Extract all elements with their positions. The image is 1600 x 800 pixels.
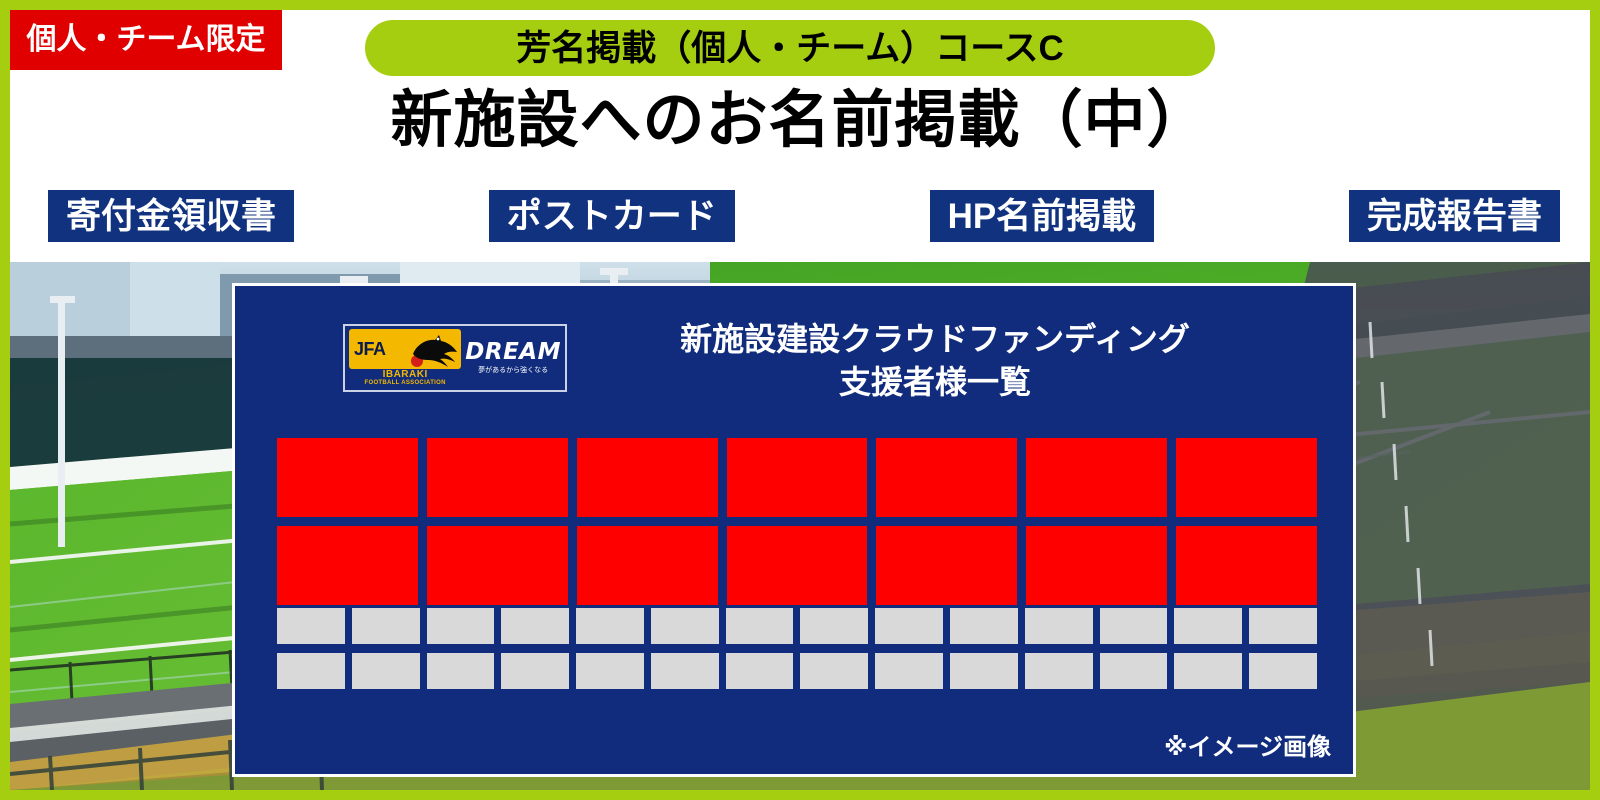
gray-nameplate-grid — [277, 608, 1317, 689]
course-pill: 芳名掲載（個人・チーム）コースC — [365, 20, 1215, 76]
red-nameplate — [577, 438, 718, 517]
jfa-mark: JFA IBARAKI FOOTBALL ASSOCIATION — [349, 329, 461, 387]
gray-nameplate — [1174, 608, 1242, 644]
page-title: 新施設へのお名前掲載（中） — [10, 88, 1590, 153]
gray-nameplate — [1100, 608, 1168, 644]
red-nameplate — [1026, 526, 1167, 605]
gray-nameplate — [352, 608, 420, 644]
jfa-dream-logo: JFA IBARAKI FOOTBALL ASSOCIATION DREAM 夢… — [343, 324, 567, 392]
red-nameplate — [727, 438, 868, 517]
gray-nameplate — [651, 608, 719, 644]
perk-receipt: 寄付金領収書 — [48, 190, 294, 242]
jfa-region-label: IBARAKI — [349, 369, 461, 380]
red-nameplate — [876, 526, 1017, 605]
red-nameplate — [277, 526, 418, 605]
gray-nameplate — [277, 653, 345, 689]
perk-postcard: ポストカード — [489, 190, 735, 242]
dream-block: DREAM 夢があるから強くなる — [465, 341, 561, 375]
red-nameplate — [427, 526, 568, 605]
gray-nameplate — [352, 653, 420, 689]
red-nameplate — [1026, 438, 1167, 517]
gray-nameplate — [1025, 653, 1093, 689]
gray-nameplate — [501, 653, 569, 689]
panel-title-line1: 新施設建設クラウドファンディング — [680, 321, 1190, 357]
red-nameplate-row — [277, 438, 1317, 517]
gray-nameplate — [427, 608, 495, 644]
red-nameplate — [277, 438, 418, 517]
poster-canvas: 個人・チーム限定 芳名掲載（個人・チーム）コースC 新施設へのお名前掲載（中） … — [0, 0, 1600, 800]
gray-nameplate — [875, 608, 943, 644]
perks-row: 寄付金領収書 ポストカード HP名前掲載 完成報告書 — [48, 190, 1560, 242]
gray-nameplate — [501, 608, 569, 644]
image-disclaimer: ※イメージ画像 — [1164, 736, 1331, 760]
red-nameplate — [1176, 526, 1317, 605]
gray-nameplate — [800, 653, 868, 689]
gray-nameplate — [726, 608, 794, 644]
jfa-org-label: FOOTBALL ASSOCIATION — [349, 380, 461, 387]
red-nameplate-row — [277, 526, 1317, 605]
gray-nameplate — [1174, 653, 1242, 689]
gray-nameplate — [277, 608, 345, 644]
gray-nameplate — [1100, 653, 1168, 689]
red-nameplate — [727, 526, 868, 605]
gray-nameplate — [427, 653, 495, 689]
gray-nameplate — [1025, 608, 1093, 644]
panel-title-line2: 支援者様一覧 — [585, 361, 1285, 404]
red-nameplate — [577, 526, 718, 605]
dream-wordmark: DREAM — [465, 341, 561, 364]
gray-nameplate — [576, 608, 644, 644]
red-nameplate — [1176, 438, 1317, 517]
gray-nameplate — [950, 653, 1018, 689]
limited-badge: 個人・チーム限定 — [10, 10, 282, 70]
header-card: 個人・チーム限定 芳名掲載（個人・チーム）コースC 新施設へのお名前掲載（中） … — [10, 10, 1590, 262]
donor-board-panel: JFA IBARAKI FOOTBALL ASSOCIATION DREAM 夢… — [232, 283, 1356, 777]
red-nameplate — [876, 438, 1017, 517]
yatagarasu-crow-icon — [403, 330, 459, 369]
red-nameplate — [427, 438, 568, 517]
red-nameplate-grid — [277, 438, 1317, 605]
gray-nameplate — [651, 653, 719, 689]
gray-nameplate-row — [277, 653, 1317, 689]
perk-report: 完成報告書 — [1349, 190, 1560, 242]
gray-nameplate — [875, 653, 943, 689]
perk-hp-name: HP名前掲載 — [930, 190, 1155, 242]
dream-tagline: 夢があるから強くなる — [478, 367, 548, 375]
gray-nameplate — [726, 653, 794, 689]
gray-nameplate — [1249, 608, 1317, 644]
gray-nameplate — [800, 608, 868, 644]
gray-nameplate — [576, 653, 644, 689]
gray-nameplate — [950, 608, 1018, 644]
gray-nameplate — [1249, 653, 1317, 689]
panel-title: 新施設建設クラウドファンディング 支援者様一覧 — [585, 318, 1285, 404]
jfa-plate: JFA — [349, 329, 461, 369]
gray-nameplate-row — [277, 608, 1317, 644]
jfa-label: JFA — [349, 340, 386, 358]
